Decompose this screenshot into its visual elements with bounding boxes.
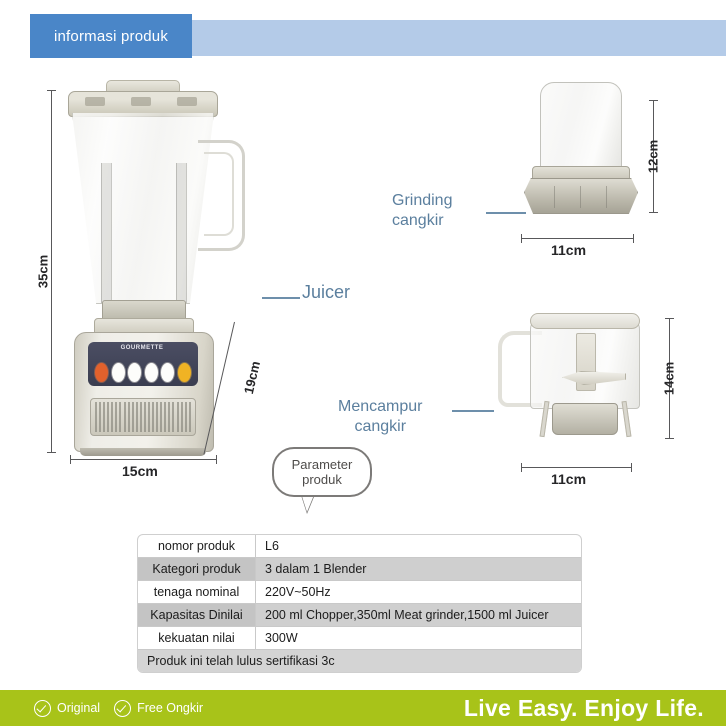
badge-original: Original [34,700,100,717]
jar-handle-inner [204,152,234,236]
blender-illustration: GOURMETTE [58,80,238,460]
spec-key: nomor produk [138,535,256,557]
grinding-cup-base [524,178,638,214]
dim-label-mixing-width: 11cm [551,471,586,487]
control-button[interactable] [160,362,175,383]
header-tab-label: informasi produk [54,28,168,45]
control-button[interactable] [177,362,192,383]
callout-juicer: Juicer [302,282,350,302]
mixing-cup-lid [530,313,640,329]
spec-key: Kapasitas Dinilai [138,604,256,626]
header-tab: informasi produk [30,14,192,58]
spec-key: tenaga nominal [138,581,256,603]
spec-key: kekuatan nilai [138,627,256,649]
dim-label-grinding-height: 12cm [646,133,661,181]
parameter-bubble-text: Parameter produk [292,457,353,487]
dim-line-blender-height [51,90,52,452]
juicer-leader-line [262,297,300,299]
blender-jar [72,113,214,304]
brand-logo: GOURMETTE [96,345,188,351]
control-button[interactable] [94,362,109,383]
badge-label: Free Ongkir [137,701,203,715]
grinding-cup-illustration [520,82,640,217]
dim-line-grinding-width [521,238,633,239]
jar-rib [101,163,112,303]
table-row: nomor produk L6 [138,535,581,558]
header-band: informasi produk [30,14,700,58]
mixing-cup-illustration [490,305,650,455]
control-button[interactable] [144,362,159,383]
badge-label: Original [57,701,100,715]
motor-vent [90,398,196,436]
table-row: Kapasitas Dinilai 200 ml Chopper,350ml M… [138,604,581,627]
control-button[interactable] [127,362,142,383]
dim-label-blender-diagonal: 19cm [238,347,266,409]
jar-rib [176,163,187,303]
spec-value: L6 [256,535,581,557]
jar-lid-notch [177,97,197,106]
check-circle-icon [34,700,51,717]
dim-label-blender-height: 35cm [36,242,51,302]
dim-line-mixing-width [521,467,631,468]
table-row: tenaga nominal 220V~50Hz [138,581,581,604]
check-circle-icon [114,700,131,717]
parameter-bubble: Parameter produk [272,447,372,497]
grinding-cup-dome [540,82,622,172]
spec-value: 220V~50Hz [256,581,581,603]
table-row: Kategori produk 3 dalam 1 Blender [138,558,581,581]
dim-label-mixing-height: 14cm [662,355,677,403]
spec-value: 3 dalam 1 Blender [256,558,581,580]
spec-value: 200 ml Chopper,350ml Meat grinder,1500 m… [256,604,581,626]
spec-value: 300W [256,627,581,649]
motor-foot [80,448,206,456]
dim-label-grinding-width: 11cm [551,242,586,258]
mixing-cup-base [552,403,618,435]
table-row: Produk ini telah lulus sertifikasi 3c [138,650,581,672]
dim-line-blender-width [70,459,216,460]
footer-badges: Original Free Ongkir [34,700,203,717]
callout-mixing-cup: Mencampur cangkir [338,397,422,437]
spec-table: nomor produk L6 Kategori produk 3 dalam … [137,534,582,673]
table-row: kekuatan nilai 300W [138,627,581,650]
footer-tagline: Live Easy. Enjoy Life. [464,695,704,722]
jar-lid-notch [85,97,105,106]
header-accent-bar [190,20,726,56]
mixing-cup-leader-line [452,410,494,412]
spec-key: Kategori produk [138,558,256,580]
badge-free-shipping: Free Ongkir [114,700,203,717]
control-button-row [94,362,192,382]
jar-lid-notch [131,97,151,106]
product-infographic: informasi produk GOURMETTE [0,0,726,726]
dim-label-blender-width: 15cm [122,463,158,479]
callout-grinding-cup: Grinding cangkir [392,191,452,231]
control-button[interactable] [111,362,126,383]
footer-bar: Original Free Ongkir Live Easy. Enjoy Li… [0,690,726,726]
spec-note: Produk ini telah lulus sertifikasi 3c [138,650,581,672]
grinding-cup-leader-line [486,212,526,214]
